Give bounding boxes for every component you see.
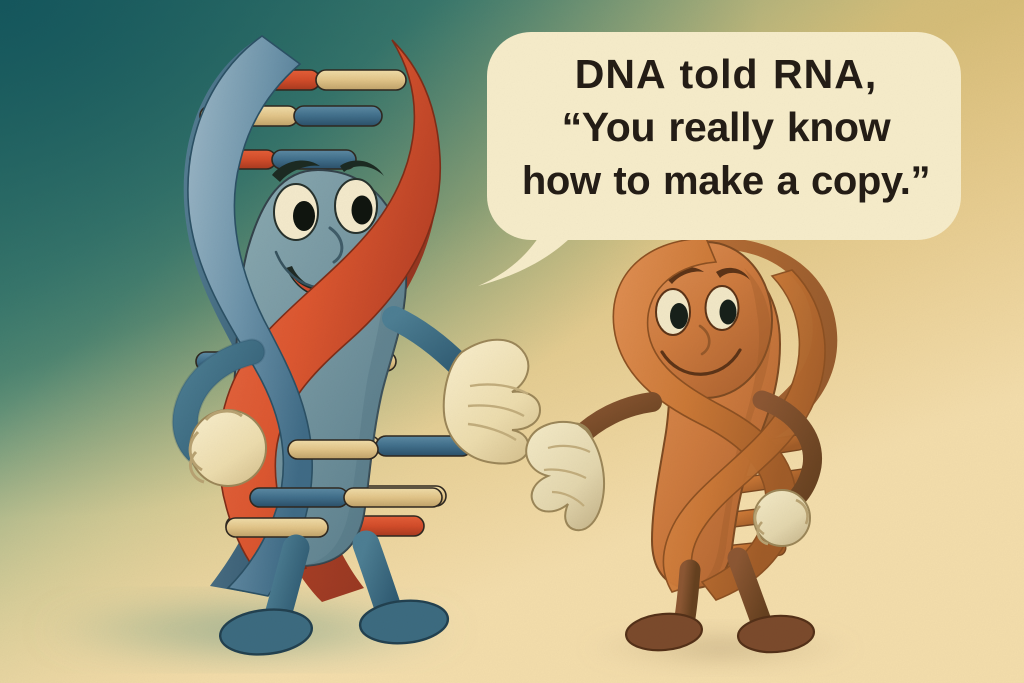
cartoon-scene: DNA told RNA, “You really know how to ma… xyxy=(0,0,1024,683)
speech-line-2: “You really know xyxy=(500,101,952,154)
dna-open-hand xyxy=(444,340,540,464)
speech-line-1: DNA told RNA, xyxy=(500,48,952,101)
rna-foot-left xyxy=(625,611,704,653)
rna-left-arm xyxy=(526,402,652,530)
rna-character xyxy=(526,238,837,655)
dna-pupil-right xyxy=(352,196,373,225)
rna-pupil-right xyxy=(720,300,737,325)
dna-character xyxy=(184,36,540,659)
dna-fist xyxy=(190,410,266,486)
rna-pupil-left xyxy=(670,303,688,329)
dna-foot-left xyxy=(218,605,314,658)
dna-pupil-left xyxy=(293,201,315,231)
rna-fist xyxy=(754,490,810,546)
rna-foot-right xyxy=(737,613,815,654)
dna-foot-right xyxy=(358,597,449,647)
speech-bubble-text: DNA told RNA, “You really know how to ma… xyxy=(500,48,952,207)
speech-line-3: how to make a copy.” xyxy=(500,155,952,207)
